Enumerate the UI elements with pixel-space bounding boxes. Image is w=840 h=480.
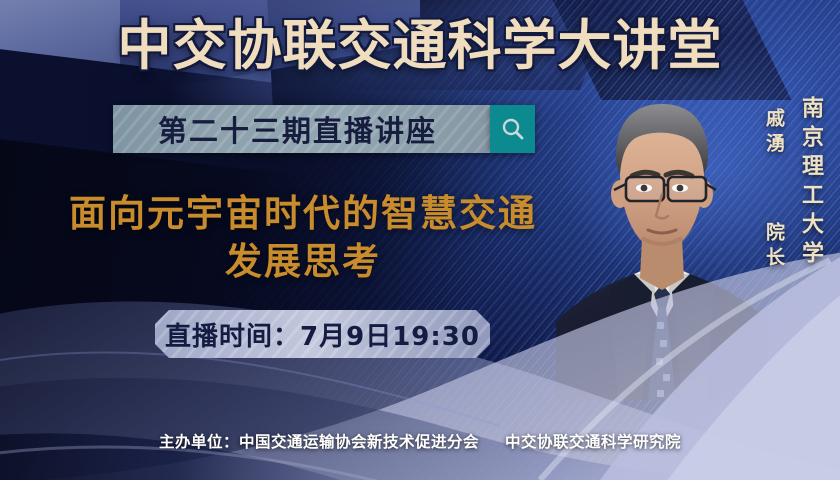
footer-organizers: 主办单位：中国交通运输协会新技术促进分会中交协联交通科学研究院 xyxy=(0,430,840,452)
lecture-title-line1: 面向元宇宙时代的智慧交通 xyxy=(69,192,537,235)
speaker-university: 南京理工大学 xyxy=(794,96,826,270)
footer-organizer-secondary: 中交协联交通科学研究院 xyxy=(505,433,681,451)
broadcast-time-plate: 直播时间：7月9日19:30 xyxy=(155,310,490,358)
footer-organizer-primary: 主办单位：中国交通运输协会新技术促进分会 xyxy=(159,433,479,451)
page-title: 中交协联交通科学大讲堂 xyxy=(0,16,840,76)
broadcast-time-label: 直播时间：7月9日19:30 xyxy=(155,310,490,358)
speaker-name: 戚湧 xyxy=(761,108,788,158)
livestream-poster: 中交协联交通科学大讲堂 第二十三期直播讲座 面向元宇宙时代的智慧交通 发展思考 … xyxy=(0,0,840,480)
episode-label: 第二十三期直播讲座 xyxy=(113,105,490,153)
episode-banner: 第二十三期直播讲座 xyxy=(113,105,490,153)
lecture-title-line2: 发展思考 xyxy=(48,238,558,286)
search-button[interactable] xyxy=(490,105,535,153)
search-icon xyxy=(500,116,526,142)
speaker-role: 院长 xyxy=(761,222,788,272)
lecture-title: 面向元宇宙时代的智慧交通 发展思考 xyxy=(48,190,558,286)
